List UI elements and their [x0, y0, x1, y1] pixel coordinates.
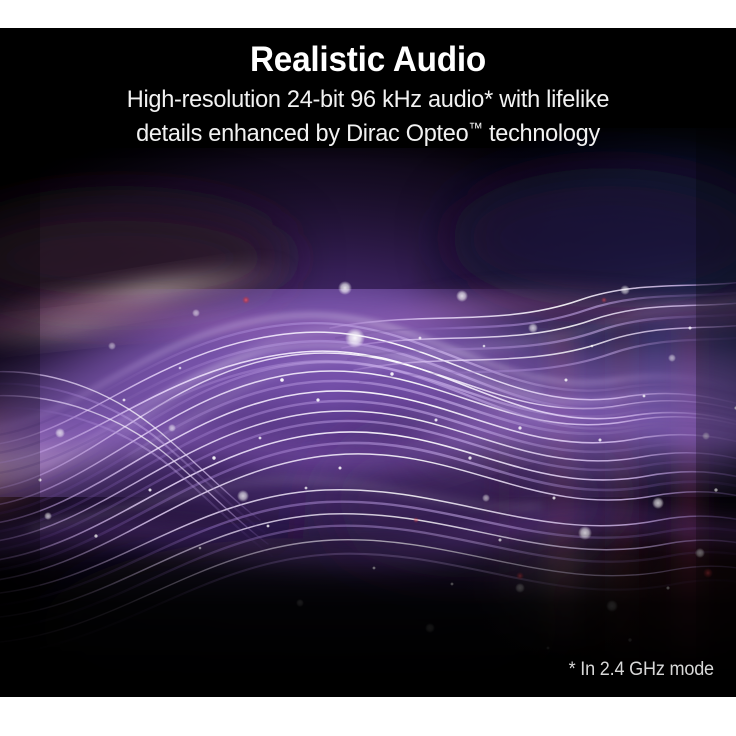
top-fade [0, 28, 736, 158]
left-vignette [0, 28, 40, 697]
hero-banner: Realistic Audio High-resolution 24-bit 9… [0, 28, 736, 697]
sound-wave-artwork [0, 28, 736, 697]
right-vignette [696, 28, 736, 697]
promo-card: Realistic Audio High-resolution 24-bit 9… [0, 0, 736, 736]
footnote-disclaimer: * In 2.4 GHz mode [569, 659, 714, 681]
